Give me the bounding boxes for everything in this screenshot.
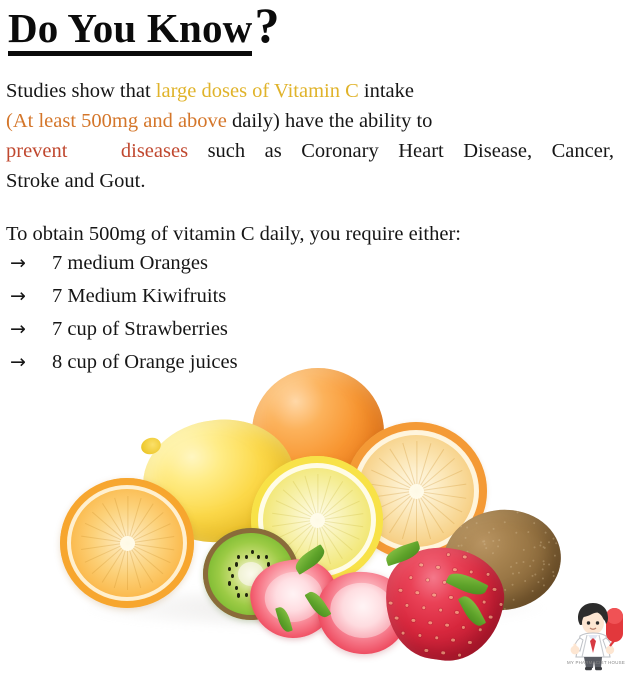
arrow-right-icon: →	[6, 318, 52, 340]
word-spacer-2	[188, 140, 208, 162]
arrow-right-icon: →	[6, 285, 52, 307]
highlight-prevent: prevent	[6, 140, 67, 162]
list-item-label: 7 cup of Strawberries	[52, 318, 228, 341]
word-spacer	[67, 140, 120, 162]
list-item: → 7 cup of Strawberries	[6, 318, 406, 351]
intro-paragraph: Studies show that large doses of Vitamin…	[6, 76, 614, 196]
page-title-text: Do You Know	[8, 6, 252, 56]
citrus-core	[310, 513, 325, 528]
page-title: Do You Know ?	[8, 6, 279, 56]
paragraph-line-1-suffix: intake	[359, 80, 414, 102]
watermark-caption: MY PHARMACIST HOUSE	[556, 660, 636, 665]
paragraph-line-3-suffix: such as Coronary Heart Disease, Cancer,	[208, 140, 614, 162]
shoe-right	[595, 667, 602, 670]
paragraph-line-1: Studies show that large doses of Vitamin…	[6, 76, 614, 106]
list-item-label: 7 Medium Kiwifruits	[52, 285, 226, 308]
hand-holding-capsule	[606, 646, 614, 654]
paragraph-line-1-prefix: Studies show that	[6, 80, 156, 102]
eye-left	[587, 621, 590, 624]
requirement-lead-in: To obtain 500mg of vitamin C daily, you …	[6, 220, 461, 248]
list-item: → 7 medium Oranges	[6, 252, 406, 285]
highlight-dose-amount: (At least 500mg and above	[6, 110, 227, 132]
arrow-right-icon: →	[6, 252, 52, 274]
watermark-logo: MY PHARMACIST HOUSE	[556, 596, 636, 674]
citrus-core	[120, 536, 135, 551]
highlight-large-doses-vitamin-c: large doses of Vitamin C	[156, 80, 359, 102]
list-item: → 7 Medium Kiwifruits	[6, 285, 406, 318]
fruit-photograph	[55, 360, 595, 650]
citrus-core	[409, 484, 424, 499]
list-item-label: 7 medium Oranges	[52, 252, 208, 275]
paragraph-line-3: prevent diseases such as Coronary Heart …	[6, 136, 614, 166]
poster-canvas: Do You Know ? Studies show that large do…	[0, 0, 640, 677]
shoe-left	[585, 667, 592, 670]
question-mark-glyph: ?	[254, 3, 279, 47]
highlight-diseases: diseases	[121, 140, 188, 162]
eye-right	[596, 621, 599, 624]
orange-half-front-image	[60, 478, 194, 608]
paragraph-line-2-suffix: daily) have the ability to	[227, 110, 433, 132]
paragraph-line-2: (At least 500mg and above daily) have th…	[6, 106, 614, 136]
arrow-right-icon: →	[6, 351, 52, 373]
paragraph-line-4: Stroke and Gout.	[6, 166, 614, 196]
